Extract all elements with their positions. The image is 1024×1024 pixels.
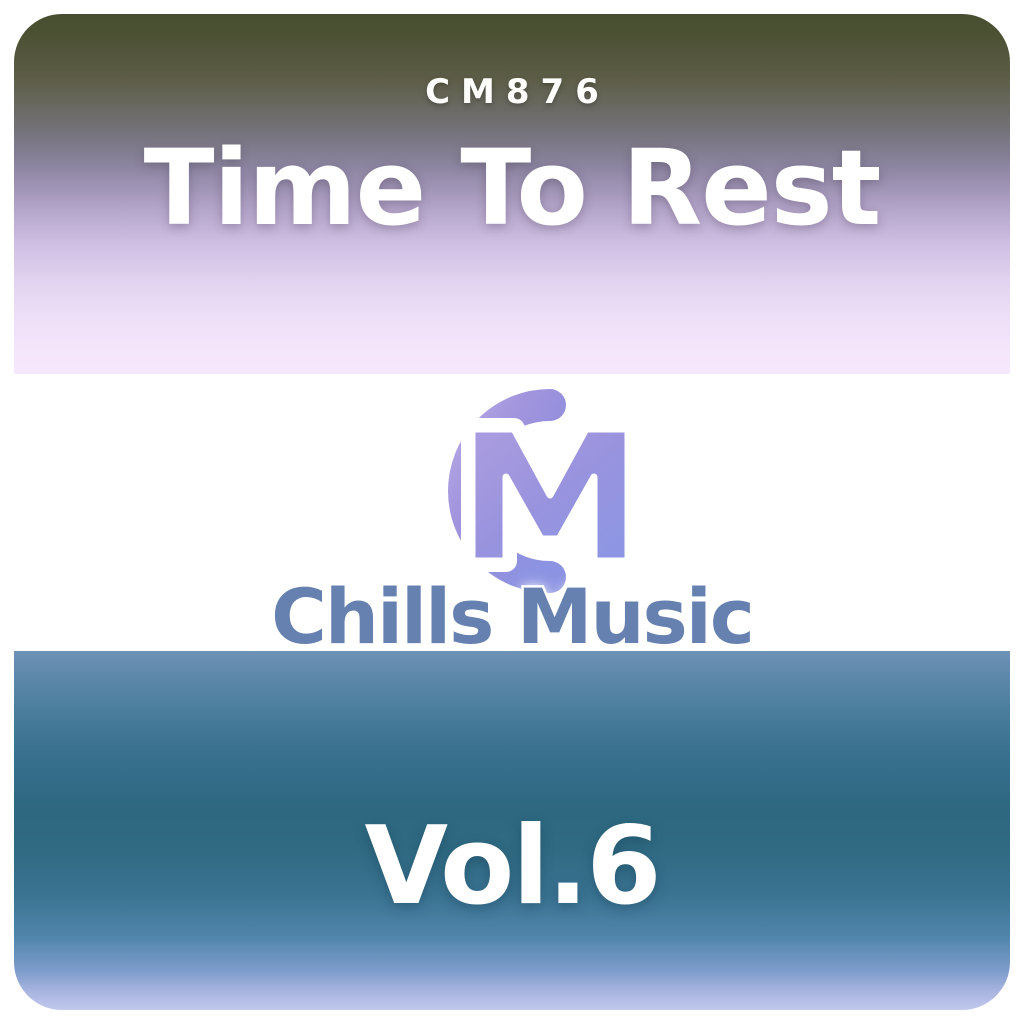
album-artwork: CM876 Time To Rest bbox=[14, 14, 1010, 1010]
top-gradient-band: CM876 Time To Rest bbox=[14, 14, 1010, 374]
album-title: Time To Rest bbox=[14, 132, 1010, 244]
album-cover-canvas: CM876 Time To Rest bbox=[0, 0, 1024, 1024]
label-brand-name: Chills Music bbox=[14, 577, 1010, 657]
bottom-gradient-band: Vol.6 bbox=[14, 651, 1010, 1010]
label-band: Chills Music bbox=[14, 374, 1010, 651]
volume-number: Vol.6 bbox=[14, 809, 1010, 925]
catalog-number: CM876 bbox=[14, 72, 1010, 112]
